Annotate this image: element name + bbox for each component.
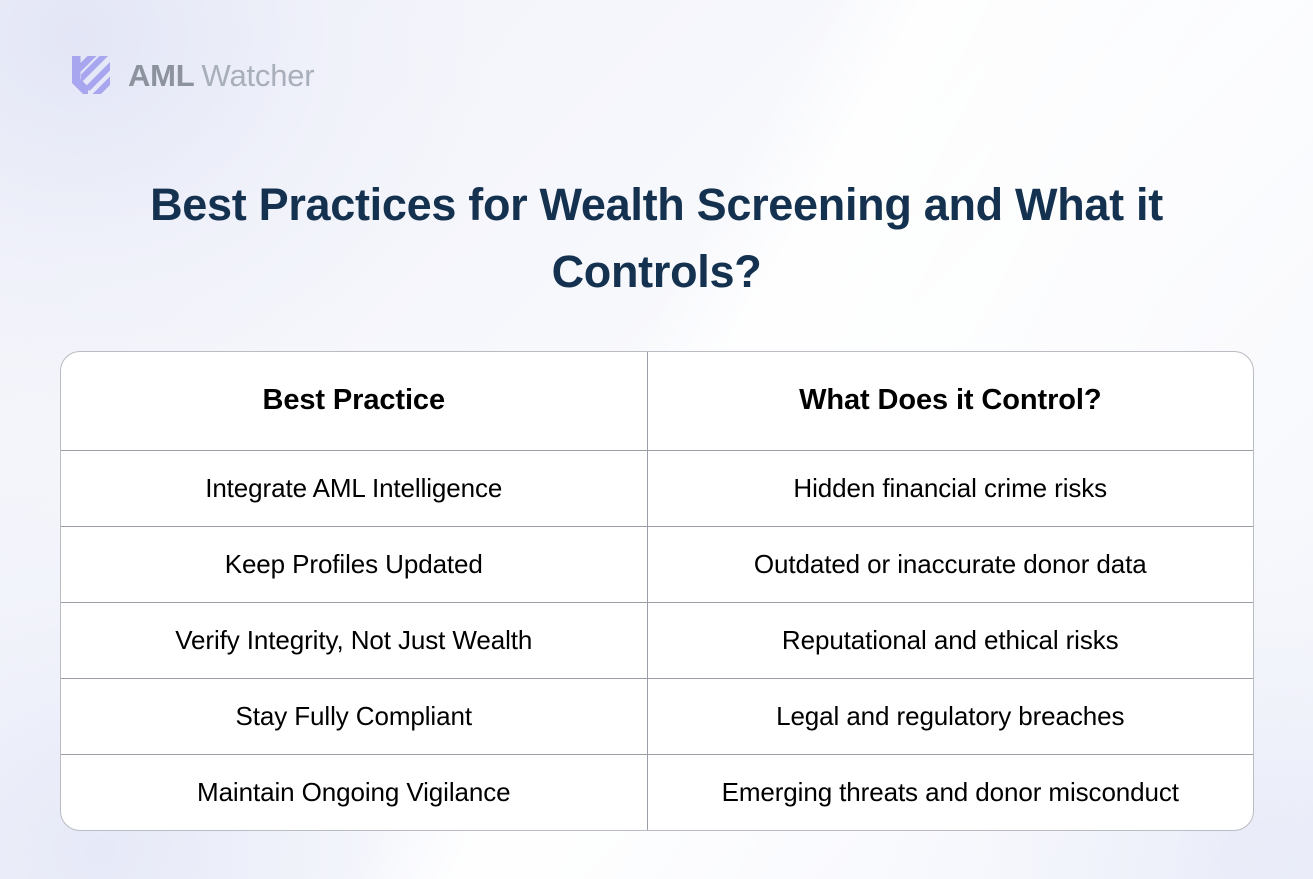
column-header-best-practice: Best Practice [61,352,647,450]
cell-control: Emerging threats and donor misconduct [647,754,1253,830]
table-body: Integrate AML Intelligence Hidden financ… [61,450,1253,830]
table-row: Stay Fully Compliant Legal and regulator… [61,678,1253,754]
best-practices-table-card: Best Practice What Does it Control? Inte… [60,351,1254,831]
cell-control: Hidden financial crime risks [647,450,1253,526]
cell-best-practice: Verify Integrity, Not Just Wealth [61,602,647,678]
brand-wordmark: AML Watcher [128,60,314,91]
cell-best-practice: Stay Fully Compliant [61,678,647,754]
brand-name-primary: AML [128,60,195,91]
aml-watcher-logo-icon [68,52,114,98]
best-practices-table: Best Practice What Does it Control? Inte… [61,352,1253,830]
cell-control: Reputational and ethical risks [647,602,1253,678]
cell-control: Legal and regulatory breaches [647,678,1253,754]
table-row: Keep Profiles Updated Outdated or inaccu… [61,526,1253,602]
infographic-page: AML Watcher Best Practices for Wealth Sc… [0,0,1313,879]
table-header-row: Best Practice What Does it Control? [61,352,1253,450]
column-header-what-does-it-control: What Does it Control? [647,352,1253,450]
table-row: Integrate AML Intelligence Hidden financ… [61,450,1253,526]
brand-lockup: AML Watcher [68,52,314,98]
cell-best-practice: Integrate AML Intelligence [61,450,647,526]
table-header: Best Practice What Does it Control? [61,352,1253,450]
cell-best-practice: Keep Profiles Updated [61,526,647,602]
table-row: Maintain Ongoing Vigilance Emerging thre… [61,754,1253,830]
cell-best-practice: Maintain Ongoing Vigilance [61,754,647,830]
page-title: Best Practices for Wealth Screening and … [97,172,1217,305]
brand-name-secondary: Watcher [202,60,315,91]
cell-control: Outdated or inaccurate donor data [647,526,1253,602]
table-row: Verify Integrity, Not Just Wealth Reputa… [61,602,1253,678]
